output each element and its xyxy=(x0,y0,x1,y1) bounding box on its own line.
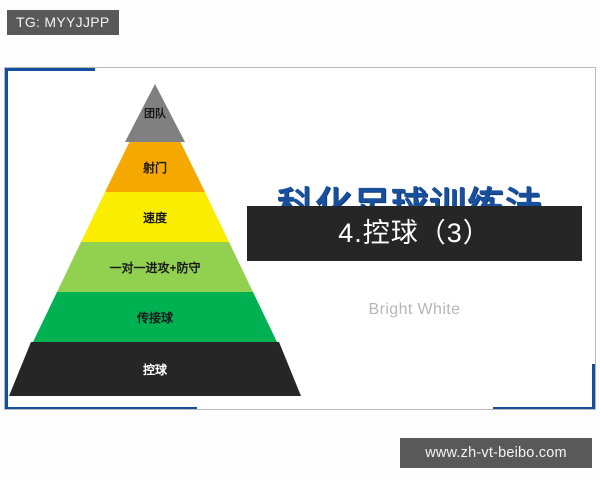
presentation-slide: 团队 射门 速度 xyxy=(4,67,596,410)
corner-bracket-bottom-left-icon xyxy=(5,402,201,409)
pyramid-tier-label: 控球 xyxy=(143,361,167,378)
pyramid-tier-label: 团队 xyxy=(144,105,166,121)
slide-subtitle-text: 4.控球（3） xyxy=(338,220,491,247)
pyramid-tier-label: 速度 xyxy=(143,209,167,226)
slide-subtitle-bar: 4.控球（3） xyxy=(247,206,582,261)
pyramid-tier-label: 射门 xyxy=(143,159,167,176)
pyramid-tier-passing: 传接球 xyxy=(29,292,281,342)
pyramid-tier-one-v-one: 一对一进攻+防守 xyxy=(53,242,257,292)
website-watermark-text: www.zh-vt-beibo.com xyxy=(425,445,567,461)
pyramid-tier-shooting: 射门 xyxy=(101,142,209,192)
pyramid-tier-ball-control: 控球 xyxy=(5,342,305,396)
slide-screenshot: TG: MYYJJPP 团队 xyxy=(0,0,600,480)
telegram-tag-watermark: TG: MYYJJPP xyxy=(7,10,119,35)
pyramid-tier-label: 一对一进攻+防守 xyxy=(109,259,200,276)
corner-bracket-top-left-icon xyxy=(5,68,121,78)
pyramid-tier-speed: 速度 xyxy=(77,192,233,242)
pyramid-tier-label: 传接球 xyxy=(137,309,173,326)
pyramid-tier-team: 团队 xyxy=(125,84,185,142)
slide-caption: Bright White xyxy=(247,301,582,319)
telegram-tag-text: TG: MYYJJPP xyxy=(16,14,110,30)
website-watermark: www.zh-vt-beibo.com xyxy=(400,438,592,468)
corner-bracket-bottom-right-icon xyxy=(489,400,595,409)
